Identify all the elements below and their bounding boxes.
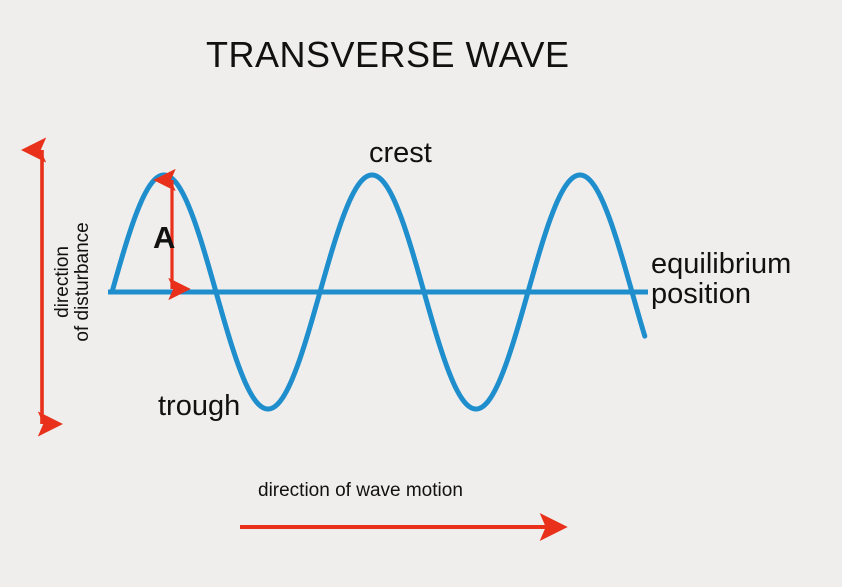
page-title: TRANSVERSE WAVE: [206, 36, 570, 74]
disturbance-axis-label: direction of disturbance: [53, 177, 93, 387]
equilibrium-position-label: equilibrium position: [651, 249, 791, 310]
equilibrium-label-line2: position: [651, 279, 791, 309]
equilibrium-label-line1: equilibrium: [651, 248, 791, 280]
disturbance-label-line1: direction: [52, 246, 73, 318]
disturbance-label-line2: of disturbance: [73, 177, 93, 387]
trough-label: trough: [158, 391, 240, 421]
crest-label: crest: [369, 138, 432, 168]
transverse-wave-diagram: TRANSVERSE WAVE crest trough A equilibri…: [0, 0, 842, 587]
wave-motion-label: direction of wave motion: [258, 481, 463, 501]
amplitude-label: A: [153, 222, 175, 255]
